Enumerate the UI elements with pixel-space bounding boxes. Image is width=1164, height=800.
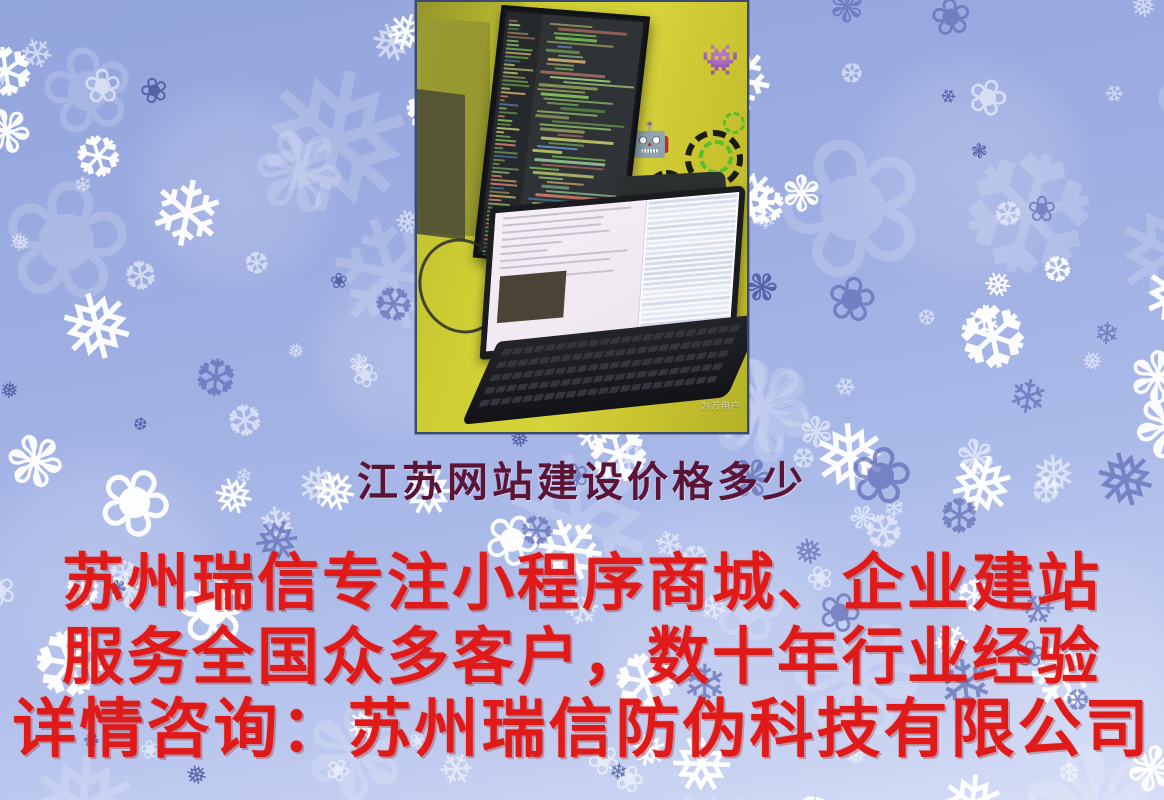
keyboard-key: [501, 373, 513, 380]
laptop: [458, 181, 749, 419]
keyboard-key: [615, 349, 627, 356]
document-text-line: [501, 241, 562, 248]
keyboard-key: [592, 375, 604, 382]
snowflake-icon: ❃: [781, 169, 823, 219]
keyboard-key: [511, 396, 523, 403]
keyboard-key: [619, 385, 631, 392]
keyboard-key: [501, 348, 513, 355]
snowflake-icon: ❃: [237, 105, 363, 243]
page-title: 江苏网站建设价格多少: [0, 448, 1164, 508]
keyboard-key: [490, 374, 502, 381]
keyboard-key: [657, 369, 669, 376]
snowflake-icon: ❀: [29, 25, 146, 158]
keyboard-key: [723, 337, 735, 344]
code-line: [541, 185, 569, 190]
keyboard-key: [506, 360, 518, 367]
minimap-line: [504, 59, 520, 62]
keyboard-key: [668, 367, 680, 374]
keyboard-key: [534, 345, 546, 352]
keyboard-key: [631, 335, 643, 342]
snowflake-icon: ❀: [822, 266, 881, 334]
snowflake-icon: ❆: [241, 247, 272, 282]
minimap-line: [492, 171, 510, 174]
keyboard-key: [549, 380, 561, 387]
code-line: [557, 45, 572, 49]
snowflake-icon: ❆: [67, 124, 130, 193]
snowflake-icon: ❅: [8, 231, 32, 258]
minimap-line: [504, 63, 515, 66]
keyboard-key: [500, 397, 512, 404]
keyboard-key: [495, 386, 507, 393]
snowflake-icon: ❆: [131, 416, 148, 435]
keyboard-key: [566, 366, 578, 373]
snowflake-icon: ❅: [1137, 250, 1164, 347]
keyboard-key: [641, 358, 653, 365]
code-line: [555, 67, 574, 71]
gear-decal: [699, 140, 733, 174]
keyboard-key: [647, 345, 659, 352]
minimap-line: [498, 111, 517, 114]
keyboard-key: [609, 386, 621, 393]
snowflake-icon: ❃: [1127, 344, 1164, 416]
keyboard-key: [566, 342, 578, 349]
keyboard-key: [663, 331, 675, 338]
promo-poster: ❃❅❄❆❅❃❅❅❅❆❆❅❃❄❆❆❄❆❆❆❃❅❀❅❅❅❅❄❅❅❄❄❆❆❃❆❀❆❃❀…: [0, 0, 1164, 800]
keyboard-key: [555, 367, 567, 374]
minimap-line: [502, 75, 525, 79]
snowflake-icon: ❄: [1004, 372, 1051, 425]
keyboard-key: [511, 372, 523, 379]
keyboard-key: [630, 384, 642, 391]
code-line: [546, 62, 575, 67]
snowflake-icon: ❅: [1078, 345, 1108, 377]
snowflake-icon: ❀: [960, 68, 1015, 128]
snowflake-icon: ❅: [48, 275, 145, 383]
keyboard-key: [550, 355, 562, 362]
minimap-line: [494, 147, 503, 150]
keyboard-key: [587, 364, 599, 371]
snowflake-icon: ❃: [401, 793, 477, 800]
headline-line-3: 详情咨询：苏州瑞信防伪科技有限公司: [0, 678, 1164, 770]
keyboard-key: [695, 377, 707, 384]
snowflake-icon: ❆: [191, 352, 239, 408]
keyboard-key: [696, 328, 708, 335]
code-line: [547, 102, 578, 107]
snowflake-icon: ❅: [0, 379, 19, 403]
keyboard-key: [544, 368, 556, 375]
keyboard-key: [652, 381, 664, 388]
keyboard-key: [641, 382, 653, 389]
minimap-line: [496, 135, 511, 138]
snowflake-icon: ❆: [0, 36, 39, 112]
minimap-line: [490, 187, 504, 190]
minimap-line: [496, 131, 505, 134]
keyboard-key: [679, 366, 691, 373]
keyboard-key: [631, 359, 643, 366]
snowflake-icon: ❆: [988, 194, 1027, 236]
keyboard-key: [652, 357, 664, 364]
keyboard-key: [554, 392, 566, 399]
snowflake-icon: ❆: [948, 289, 1038, 389]
keyboard-key: [653, 332, 665, 339]
code-line: [532, 149, 562, 154]
keyboard-key: [696, 352, 708, 359]
minimap-line: [507, 32, 528, 36]
snowflake-icon: ❀: [926, 0, 975, 45]
keyboard-key: [609, 361, 621, 368]
keyboard-key: [706, 351, 718, 358]
snowflake-icon: ❀: [346, 355, 384, 395]
keyboard-key: [717, 350, 729, 357]
keyboard-key: [647, 370, 659, 377]
keyboard-key: [479, 399, 491, 406]
snowflake-icon: ❄: [455, 788, 545, 800]
code-line: [535, 114, 569, 119]
keyboard-key: [609, 337, 621, 344]
keyboard-key: [593, 351, 605, 358]
minimap-line: [508, 28, 519, 31]
snowflake-icon: ❄: [831, 371, 862, 404]
keyboard-key: [571, 353, 583, 360]
snowflake-icon: ❀: [82, 64, 123, 112]
keyboard-key: [663, 380, 675, 387]
keyboard-key: [658, 344, 670, 351]
keyboard-key: [538, 381, 550, 388]
code-line: [549, 23, 593, 29]
video-thumbnail: [497, 270, 567, 323]
snowflake-icon: ❄: [745, 794, 796, 800]
keyboard-key: [706, 376, 718, 383]
snowflake-icon: ❄: [73, 173, 94, 197]
keyboard-key: [565, 390, 577, 397]
keyboard-key: [636, 346, 648, 353]
keyboard-key: [582, 376, 594, 383]
snowflake-icon: ❅: [1129, 0, 1159, 24]
snowflake-icon: ❃: [970, 141, 989, 163]
minimap-line: [488, 198, 502, 201]
document-text-line: [501, 249, 547, 255]
minimap-line: [491, 175, 502, 178]
alien-decal: 👾: [702, 46, 739, 76]
keyboard-key: [582, 352, 594, 359]
keyboard-key: [625, 348, 637, 355]
keyboard-key: [576, 389, 588, 396]
snowflake-icon: ❅: [1110, 184, 1164, 333]
keyboard-key: [523, 346, 535, 353]
keyboard-key: [614, 373, 626, 380]
keyboard-key: [701, 364, 713, 371]
keyboard-key: [576, 365, 588, 372]
keyboard-key: [690, 341, 702, 348]
keyboard-key: [517, 383, 529, 390]
minimap-line: [508, 24, 520, 27]
keyboard-key: [512, 347, 524, 354]
keyboard-key: [625, 372, 637, 379]
keyboard-key: [642, 334, 654, 341]
keyboard-key: [528, 358, 540, 365]
keyboard-key: [598, 387, 610, 394]
office-photo: 👾 🤖 👽: [415, 0, 749, 434]
snowflake-icon: ❀: [0, 154, 142, 330]
snowflake-icon: ❄: [867, 794, 928, 800]
keyboard-key: [604, 350, 616, 357]
snowflake-icon: ❅: [233, 35, 435, 261]
keyboard-key: [674, 355, 686, 362]
snowflake-icon: ❆: [916, 307, 937, 331]
keyboard-key: [587, 388, 599, 395]
keyboard-key: [603, 374, 615, 381]
keyboard-key: [539, 357, 551, 364]
snowflake-icon: ❄: [0, 55, 17, 106]
snowflake-icon: ❆: [223, 398, 266, 447]
keyboard-key: [489, 398, 501, 405]
spreadsheet-pane: [636, 192, 739, 338]
minimap-line: [500, 95, 509, 98]
snowflake-icon: ❄: [938, 86, 961, 111]
minimap-line: [503, 71, 519, 74]
keyboard-key: [620, 336, 632, 343]
keyboard-key: [707, 327, 719, 334]
snowflake-icon: ❆: [790, 788, 837, 800]
ghost-flake: [840, 40, 1100, 300]
keyboard-key: [528, 382, 540, 389]
keyboard-key: [620, 360, 632, 367]
keyboard-key: [712, 363, 724, 370]
snowflake-icon: ❄: [140, 164, 233, 268]
snowflake-icon: ❃: [347, 352, 370, 379]
snowflake-icon: ❃: [0, 96, 43, 172]
keyboard-key: [555, 343, 567, 350]
keyboard-key: [685, 353, 697, 360]
minimap-line: [497, 123, 511, 126]
keyboard-key: [484, 387, 496, 394]
snowflake-icon: ❆: [122, 254, 161, 299]
keyboard-key: [663, 356, 675, 363]
keyboard-key: [577, 340, 589, 347]
keyboard-key: [674, 379, 686, 386]
minimap-line: [492, 163, 499, 166]
keyboard-key: [588, 339, 600, 346]
ghost-flake: [120, 70, 350, 300]
snowflake-icon: ❀: [136, 70, 173, 111]
keyboard-key: [718, 326, 730, 333]
keyboard-key: [560, 354, 572, 361]
keyboard-key: [669, 343, 681, 350]
keyboard-key: [674, 330, 686, 337]
minimap-line: [497, 119, 512, 122]
minimap-line: [506, 39, 518, 42]
minimap-line: [499, 107, 507, 110]
snowflake-icon: ❄: [14, 29, 60, 79]
snowflake-icon: ❀: [1027, 192, 1057, 228]
snowflake-icon: ❅: [286, 340, 306, 363]
keyboard-key: [690, 365, 702, 372]
snowflake-icon: ❃: [829, 0, 866, 31]
snowflake-icon: ❄: [966, 300, 1002, 342]
snowflake-icon: ❄: [1092, 318, 1120, 351]
keyboard-key: [560, 379, 572, 386]
minimap-line: [505, 55, 529, 59]
keyboard-key: [636, 371, 648, 378]
minimap-line: [495, 139, 516, 143]
snowflake-icon: ❀: [329, 271, 348, 293]
snowflake-icon: ❆: [935, 118, 1119, 320]
snowflake-icon: ❆: [836, 58, 869, 93]
document-text-line: [503, 206, 631, 219]
minimap-line: [497, 127, 520, 131]
minimap-line: [499, 103, 518, 106]
snowflake-icon: ❃: [1152, 796, 1164, 800]
photo-watermark: 为万用户: [701, 399, 741, 412]
snowflake-icon: ❀: [750, 95, 956, 321]
code-line: [538, 176, 564, 180]
minimap-line: [493, 159, 505, 162]
code-line: [539, 128, 585, 134]
keyboard-key: [598, 363, 610, 370]
keyboard-key: [544, 344, 556, 351]
keyboard-key: [701, 340, 713, 347]
keyboard-key: [728, 325, 740, 332]
keyboard-key: [571, 378, 583, 385]
keyboard-key: [533, 394, 545, 401]
keyboard-key: [506, 384, 518, 391]
minimap-line: [495, 143, 516, 147]
minimap-line: [489, 190, 509, 194]
snowflake-icon: ❅: [979, 265, 1019, 308]
gear-decal: [723, 112, 745, 134]
snowflake-icon: ❃: [1127, 0, 1164, 192]
minimap-line: [501, 87, 511, 90]
keyboard-key: [522, 371, 534, 378]
keyboard-key: [533, 369, 545, 376]
keyboard-key: [599, 338, 611, 345]
snowflake-icon: ❆: [1038, 250, 1077, 293]
keyboard-key: [685, 329, 697, 336]
keyboard-key: [495, 361, 507, 368]
minimap-line: [500, 99, 505, 101]
keyboard-key: [522, 395, 534, 402]
keyboard-key: [517, 359, 529, 366]
snowflake-icon: ❄: [1101, 80, 1130, 111]
keyboard-key: [544, 393, 556, 400]
minimap-line: [509, 20, 518, 23]
keyboard-key: [684, 378, 696, 385]
minimap-line: [498, 115, 505, 118]
keyboard-key: [712, 338, 724, 345]
minimap-line: [506, 43, 519, 46]
code-line: [546, 49, 580, 54]
keyboard-key: [680, 342, 692, 349]
snowflake-icon: ❄: [753, 207, 777, 235]
